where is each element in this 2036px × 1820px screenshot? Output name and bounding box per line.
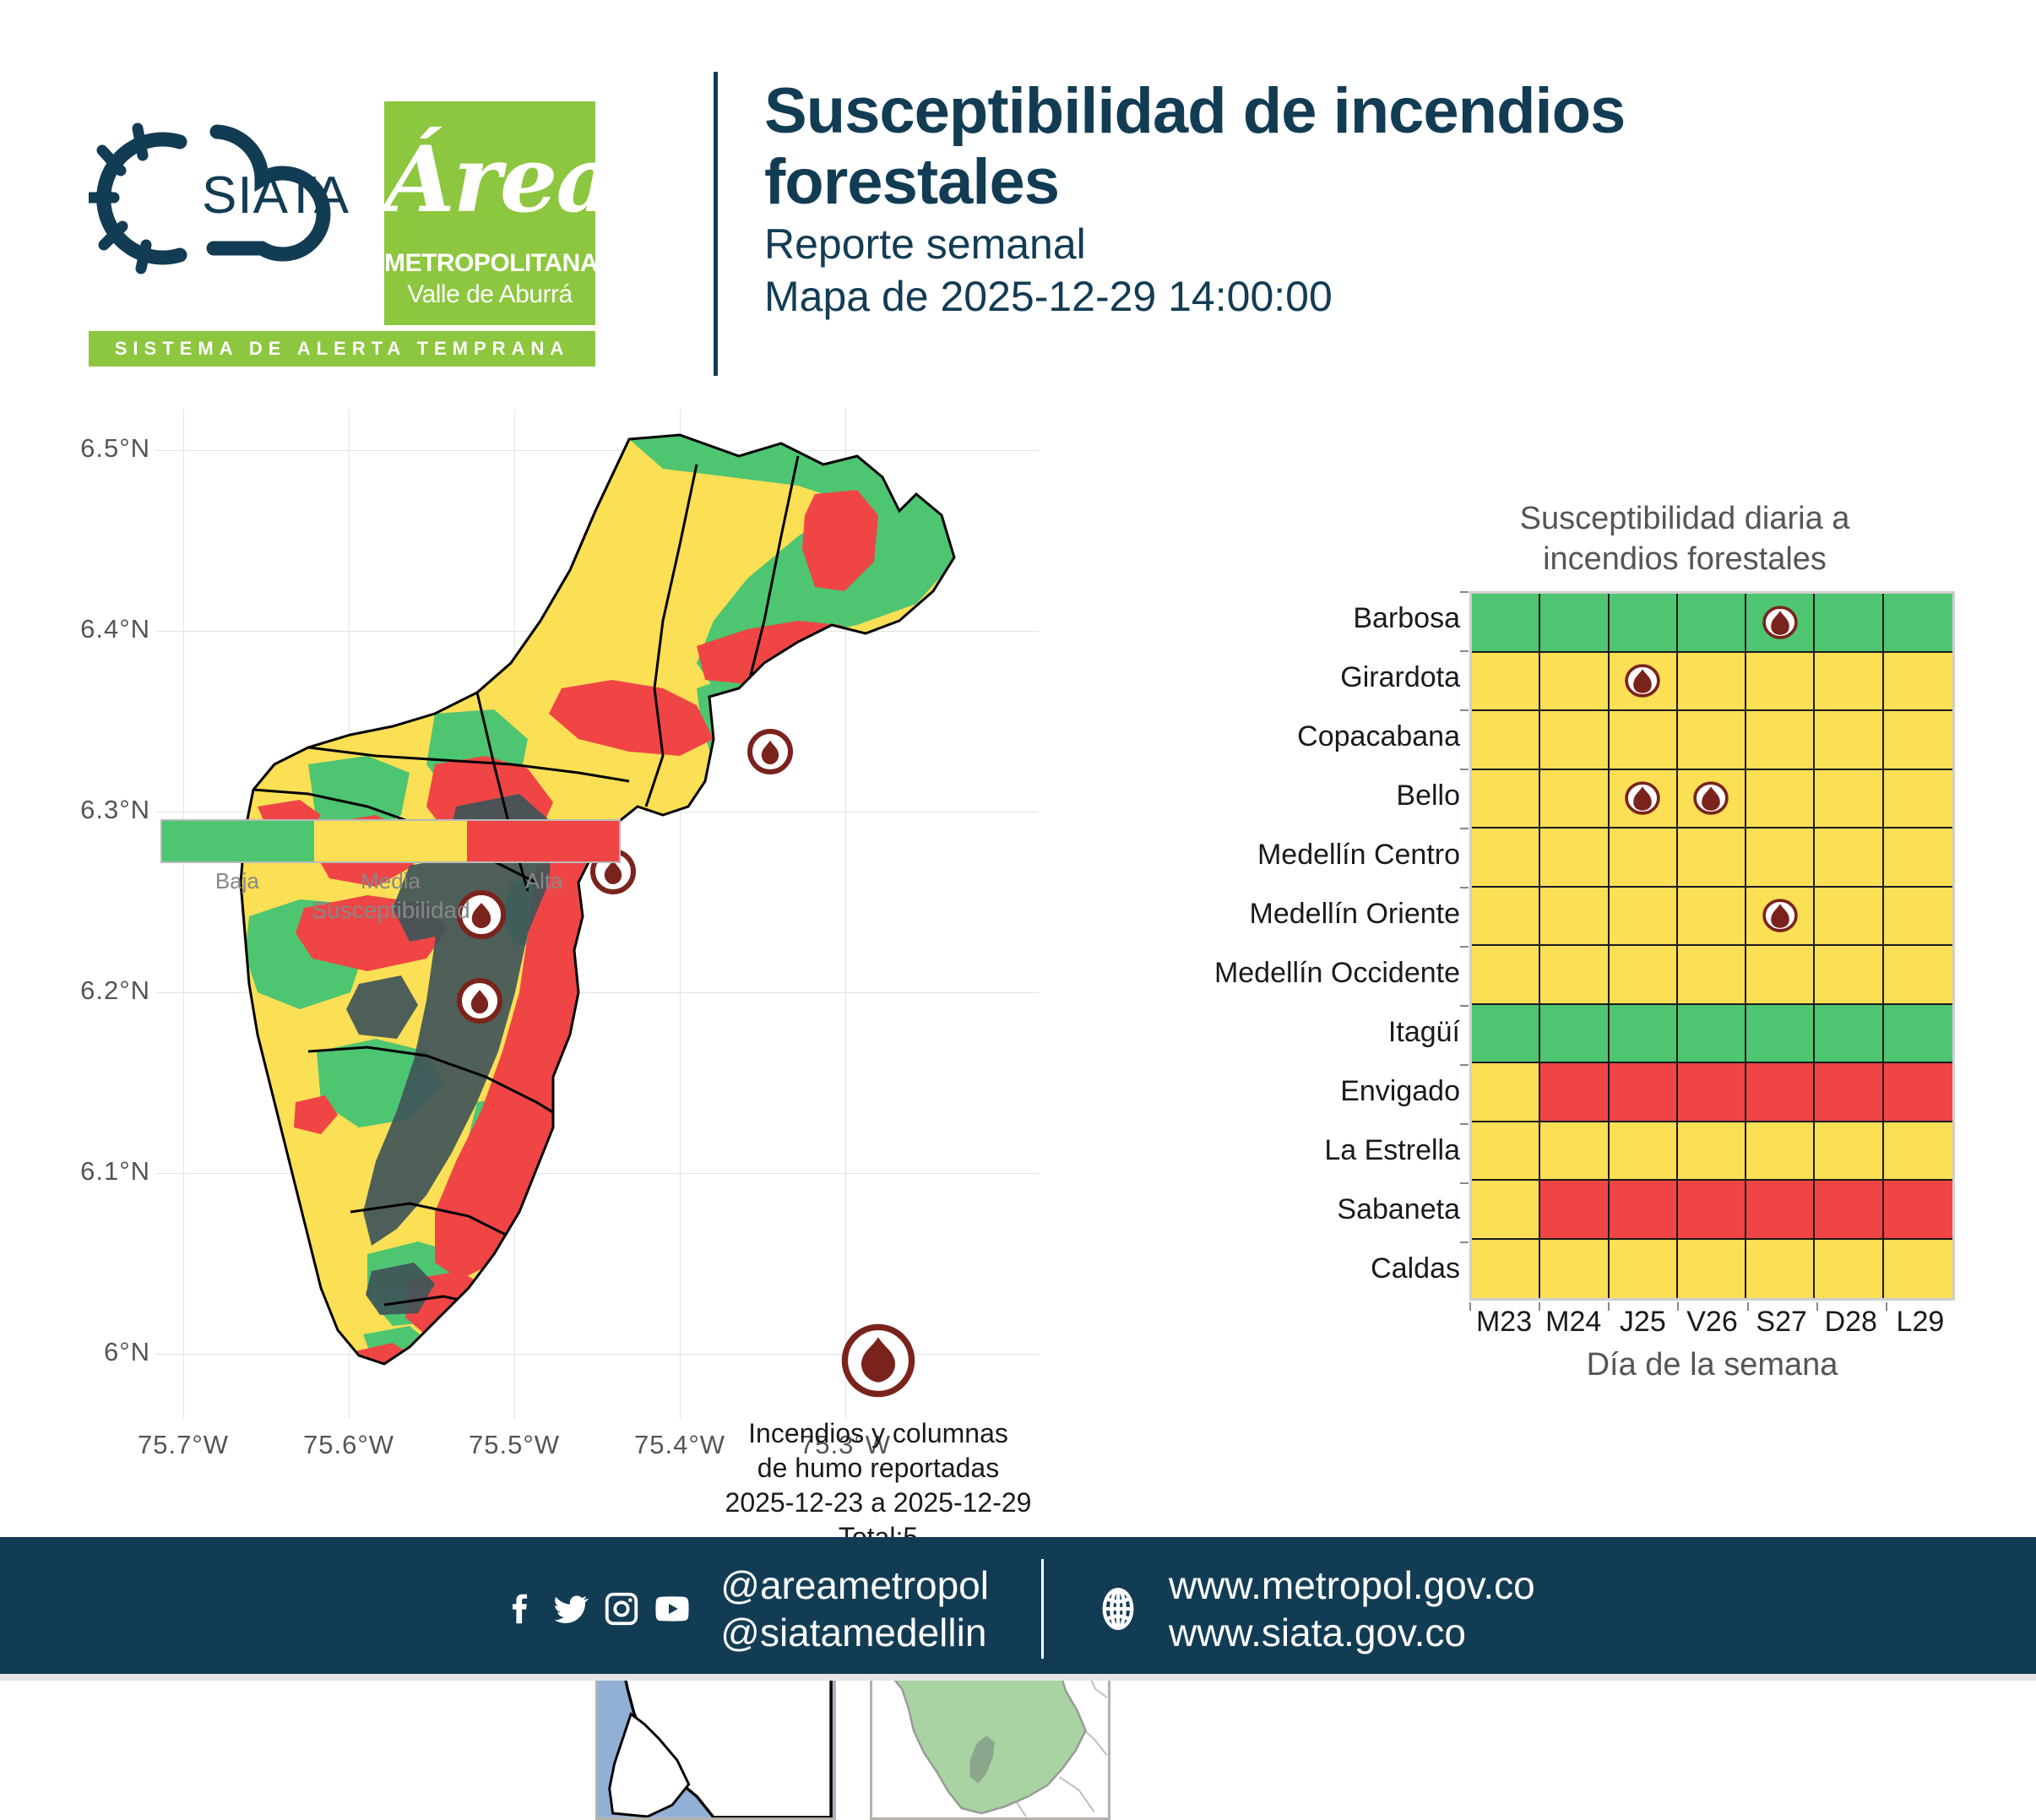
fire-icon [1625, 663, 1660, 698]
heatmap-row-label-4: Bello [1105, 780, 1460, 812]
web-block: www.metropol.gov.co www.siata.gov.co [1096, 1562, 1535, 1656]
colorbar-labels: Baja Media Alta [160, 868, 621, 894]
heatmap-cell [1815, 1005, 1883, 1064]
map-ylabel-0: 6.5°N [15, 433, 150, 464]
colorbar-title: Susceptibilidad [160, 897, 621, 924]
heatmap-cell [1610, 1063, 1678, 1122]
handle-areametropol[interactable]: @areametropol [720, 1562, 989, 1609]
header: SIATA Área METROPOLITANA Valle de Aburrá… [0, 0, 2036, 388]
heatmap-cell [1540, 946, 1609, 1005]
heatmap-cell [1678, 1122, 1746, 1182]
heatmap-cell [1678, 1005, 1746, 1064]
social-handles: @areametropol @siatamedellin [720, 1562, 989, 1656]
heatmap-cell [1540, 1181, 1609, 1240]
heatmap-cell [1540, 1240, 1609, 1299]
heatmap-cell [1746, 770, 1815, 829]
heatmap-cell [1746, 1240, 1815, 1299]
heatmap-cell [1884, 770, 1952, 829]
heatmap-cell [1540, 594, 1609, 653]
heatmap-cell [1815, 1181, 1883, 1240]
heatmap-cell [1540, 888, 1609, 947]
map-xlabel-1: 75.6°W [264, 1430, 433, 1460]
heatmap-cell [1472, 594, 1540, 653]
fire-icon [1762, 605, 1798, 640]
page-subtitle: Reporte semanal [764, 218, 1989, 270]
daily-susceptibility-heatmap-panel: Susceptibilidad diaria a incendios fores… [1144, 388, 2036, 1537]
heatmap-cell [1815, 946, 1883, 1005]
heatmap-cell [1746, 1122, 1815, 1182]
footer: @areametropol @siatamedellin www.metropo… [0, 1537, 2036, 1681]
map-xlabel-2: 75.5°W [430, 1430, 599, 1460]
map-ylabel-3: 6.2°N [15, 975, 150, 1006]
fire-icon [1625, 780, 1660, 816]
heatmap-title-line1: Susceptibilidad diaria a [1364, 498, 2006, 539]
heatmap-cell [1610, 829, 1678, 888]
heatmap-cell [1472, 770, 1540, 829]
colorbar-segment-media [314, 821, 466, 861]
heatmap-cell [1815, 829, 1883, 888]
heatmap-cell [1610, 888, 1678, 947]
heatmap-row-label-8: Itagüí [1105, 1016, 1460, 1049]
instagram-icon[interactable] [602, 1589, 641, 1628]
heatmap-cell [1610, 1122, 1678, 1182]
susceptibility-map-panel: 6.5°N 6.4°N 6.3°N 6.2°N 6.1°N 6°N 75.7°W… [0, 388, 1144, 1537]
siata-logo-icon: SIATA [89, 110, 367, 304]
heatmap-row-label-9: Envigado [1105, 1075, 1460, 1108]
heatmap-cell [1815, 1063, 1883, 1122]
map-ylabel-5: 6°N [15, 1337, 150, 1367]
heatmap-cell [1884, 888, 1952, 947]
globe-icon [1096, 1587, 1140, 1631]
heatmap-col-tick [1677, 1302, 1679, 1311]
heatmap-cell [1610, 1240, 1678, 1299]
heatmap-cell [1472, 1122, 1540, 1182]
heatmap-cell [1540, 653, 1609, 712]
heatmap-row-tick [1460, 828, 1469, 829]
heatmap-row-tick [1460, 1182, 1469, 1184]
social-icons [501, 1589, 692, 1628]
heatmap-row-tick [1460, 591, 1469, 593]
footer-divider [1041, 1559, 1044, 1659]
heatmap-row-tick [1460, 1005, 1469, 1007]
heatmap-col-tick [1608, 1302, 1610, 1311]
heatmap-row-tick [1460, 1241, 1469, 1243]
heatmap-cell [1472, 653, 1540, 712]
heatmap-row-label-3: Copacabana [1105, 720, 1460, 753]
heatmap-row-label-10: La Estrella [1105, 1134, 1460, 1167]
website-urls: www.metropol.gov.co www.siata.gov.co [1169, 1562, 1535, 1656]
heatmap-cell [1472, 888, 1540, 947]
heatmap-row-tick [1460, 946, 1469, 948]
heatmap-cell [1746, 653, 1815, 712]
heatmap-cell [1610, 711, 1678, 770]
map-ylabel-4: 6.1°N [15, 1156, 150, 1187]
heatmap-cell [1610, 1005, 1678, 1064]
heatmap-xaxis-title: Día de la semana [1469, 1347, 1955, 1383]
map-xlabel-0: 75.7°W [99, 1430, 268, 1460]
heatmap-row-label-6: Medellín Oriente [1105, 898, 1460, 931]
heatmap-cell [1884, 1122, 1952, 1182]
url-siata[interactable]: www.siata.gov.co [1169, 1609, 1535, 1656]
heatmap-cell [1540, 770, 1609, 829]
title-block: Susceptibilidad de incendios forestales … [764, 76, 1989, 323]
heatmap-cell [1884, 1240, 1952, 1299]
heatmap-cell [1540, 829, 1609, 888]
heatmap-cell [1884, 1181, 1952, 1240]
heatmap-cell [1472, 1005, 1540, 1064]
heatmap-row-label-1: Barbosa [1105, 602, 1460, 635]
heatmap-col-tick [1469, 1302, 1471, 1311]
youtube-icon[interactable] [653, 1589, 692, 1628]
heatmap-cell [1678, 711, 1746, 770]
heatmap-cell [1678, 770, 1746, 829]
map-ylabel-2: 6.3°N [15, 795, 150, 825]
fire-icon [1693, 780, 1729, 816]
heatmap-cell [1610, 1181, 1678, 1240]
heatmap-cell [1884, 829, 1952, 888]
heatmap-title-line2: incendios forestales [1364, 539, 2006, 579]
heatmap-cell [1472, 946, 1540, 1005]
fire-legend-line2: de humo reportadas [667, 1451, 1089, 1486]
colorbar-label-baja: Baja [160, 868, 314, 894]
heatmap-cell [1610, 770, 1678, 829]
siata-tagline: SISTEMA DE ALERTA TEMPRANA [89, 331, 595, 367]
heatmap-cell [1678, 1063, 1746, 1122]
title-divider [714, 72, 718, 376]
fire-legend-text: Incendios y columnas de humo reportadas … [667, 1416, 1089, 1555]
susceptibility-colorbar [160, 819, 621, 863]
colorbar-label-alta: Alta [467, 868, 621, 894]
heatmap-cell [1678, 594, 1746, 653]
colorbar-segment-alta [467, 821, 619, 861]
footer-bottom-strip [0, 1674, 2036, 1681]
heatmap-row-tick [1460, 887, 1469, 888]
heatmap-cell [1540, 1122, 1609, 1182]
heatmap-cell [1746, 829, 1815, 888]
fire-legend: Incendios y columnas de humo reportadas … [667, 1322, 1089, 1555]
heatmap-cell [1678, 829, 1746, 888]
heatmap-cell [1472, 1063, 1540, 1122]
social-block: @areametropol @siatamedellin [501, 1562, 989, 1656]
heatmap-cell [1815, 770, 1883, 829]
map-timestamp: Mapa de 2025-12-29 14:00:00 [764, 270, 1989, 323]
heatmap-cell [1678, 1240, 1746, 1299]
svg-text:SIATA: SIATA [202, 166, 350, 225]
heatmap-row-tick [1460, 1064, 1469, 1066]
twitter-icon[interactable] [551, 1589, 590, 1628]
heatmap-cell [1610, 653, 1678, 712]
colorbar-segment-baja [162, 821, 314, 861]
heatmap-cell [1884, 946, 1952, 1005]
heatmap-cell [1540, 711, 1609, 770]
heatmap-cell [1815, 711, 1883, 770]
heatmap-row-label-7: Medellín Occidente [1105, 957, 1460, 990]
page-title-line1: Susceptibilidad de incendios [764, 76, 1989, 147]
colorbar-label-media: Media [314, 868, 468, 894]
heatmap-cell [1610, 946, 1678, 1005]
heatmap-cell [1884, 594, 1952, 653]
heatmap-cell [1815, 1122, 1883, 1182]
url-metropol[interactable]: www.metropol.gov.co [1169, 1562, 1535, 1609]
heatmap-title: Susceptibilidad diaria a incendios fores… [1364, 498, 2006, 579]
heatmap-cell [1540, 1063, 1609, 1122]
heatmap-cell [1746, 711, 1815, 770]
heatmap-col-tick [1747, 1302, 1749, 1311]
heatmap-cell [1746, 946, 1815, 1005]
heatmap-cell [1884, 1063, 1952, 1122]
heatmap-cell [1472, 711, 1540, 770]
heatmap-cell [1746, 1063, 1815, 1122]
area-metropolitana-logo: Área METROPOLITANA Valle de Aburrá [384, 101, 595, 325]
heatmap-row-tick [1460, 1123, 1469, 1125]
heatmap-cell [1472, 1240, 1540, 1299]
heatmap-cell [1540, 1005, 1609, 1064]
fire-icon [839, 1322, 917, 1399]
heatmap-cell [1815, 1240, 1883, 1299]
map-ylabel-1: 6.4°N [15, 614, 150, 644]
heatmap-row-label-11: Sabaneta [1105, 1193, 1460, 1226]
area-logo-script: Área [384, 108, 595, 252]
heatmap-cell [1678, 888, 1746, 947]
heatmap-cell [1815, 653, 1883, 712]
handle-siatamedellin[interactable]: @siatamedellin [720, 1609, 989, 1656]
heatmap-cell [1815, 594, 1883, 653]
fire-legend-line1: Incendios y columnas [667, 1416, 1089, 1451]
heatmap-cell [1472, 829, 1540, 888]
heatmap-col-tick [1886, 1302, 1887, 1311]
heatmap-row-tick [1460, 709, 1469, 711]
heatmap-cell [1746, 1005, 1815, 1064]
heatmap-cell [1678, 1181, 1746, 1240]
heatmap-row-label-5: Medellín Centro [1105, 839, 1460, 872]
heatmap-cell [1472, 1181, 1540, 1240]
fire-icon [1762, 898, 1798, 933]
heatmap-cell [1746, 888, 1815, 947]
heatmap-row-label-2: Girardota [1105, 661, 1460, 694]
heatmap-cell [1678, 653, 1746, 712]
logo-block: SIATA Área METROPOLITANA Valle de Aburrá… [80, 93, 621, 372]
area-logo-valle: Valle de Aburrá [384, 280, 595, 309]
heatmap-cell [1884, 711, 1952, 770]
heatmap-cell [1746, 594, 1815, 653]
heatmap-cell [1815, 888, 1883, 947]
heatmap-col-tick [1816, 1302, 1818, 1311]
heatmap-grid [1469, 591, 1955, 1301]
heatmap-cell [1678, 946, 1746, 1005]
heatmap-row-tick [1460, 650, 1469, 652]
facebook-icon[interactable] [501, 1589, 540, 1628]
heatmap-row-label-12: Caldas [1105, 1252, 1460, 1285]
heatmap-cell [1884, 1005, 1952, 1064]
heatmap-col-tick [1539, 1302, 1540, 1311]
page-title-line2: forestales [764, 147, 1989, 218]
fire-legend-line3: 2025-12-23 a 2025-12-29 [667, 1486, 1089, 1520]
heatmap-row-tick [1460, 769, 1469, 770]
area-logo-metropolitana: METROPOLITANA [384, 249, 595, 278]
heatmap-cell [1610, 594, 1678, 653]
heatmap-cell [1746, 1181, 1815, 1240]
heatmap-cell [1884, 653, 1952, 712]
